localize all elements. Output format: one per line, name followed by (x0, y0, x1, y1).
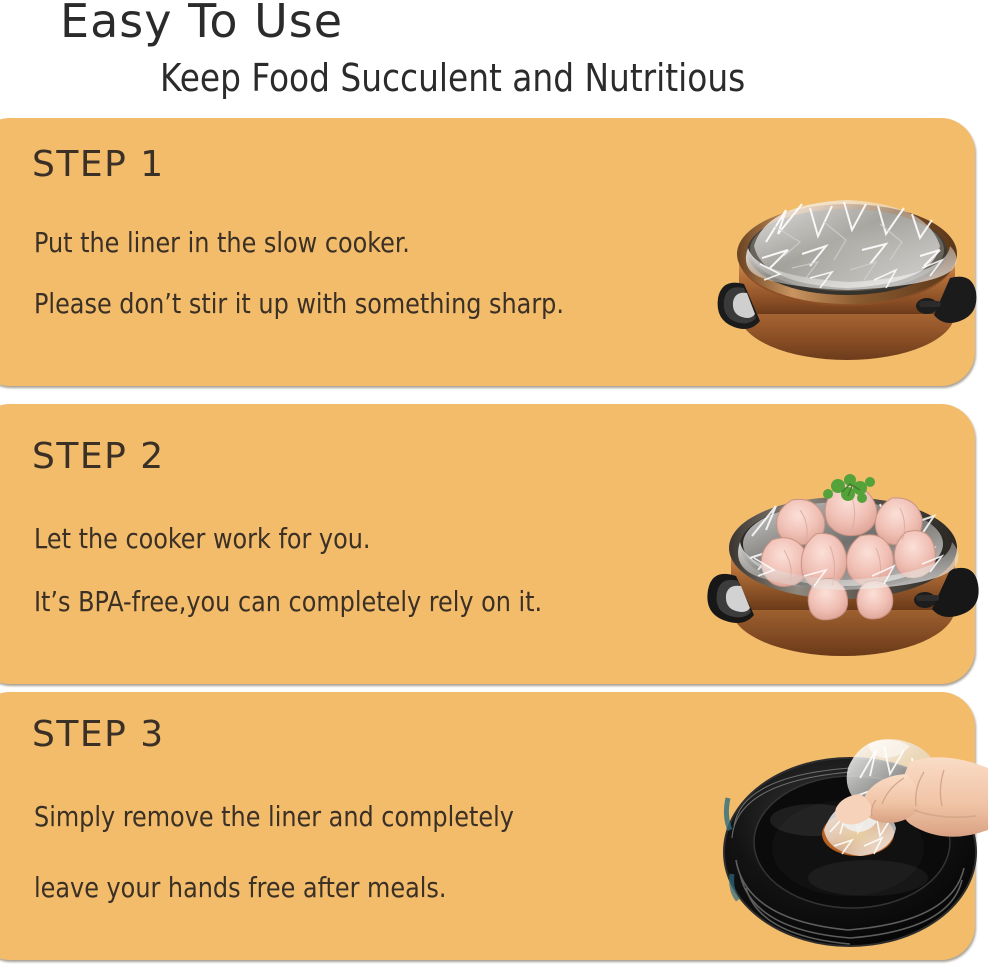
step-3-text-block: Simply remove the liner and completely l… (34, 800, 539, 942)
step-2-line-1: Let the cooker work for you. (34, 522, 542, 555)
step-3-heading: STEP 3 (32, 714, 165, 755)
header-block: Easy To Use Keep Food Succulent and Nutr… (0, 0, 994, 112)
step-1-photo-slow-cooker-with-liner (714, 138, 984, 388)
page-title: Easy To Use (60, 0, 343, 48)
step-1-line-1: Put the liner in the slow cooker. (34, 226, 564, 259)
step-2-text-block: Let the cooker work for you. It’s BPA-fr… (34, 522, 569, 648)
step-1-text-block: Put the liner in the slow cooker. Please… (34, 226, 592, 348)
step-3-photo-hand-removing-liner (718, 702, 988, 960)
step-1-heading: STEP 1 (32, 144, 165, 185)
step-3-line-2: leave your hands free after meals. (34, 871, 514, 904)
step-2-heading: STEP 2 (32, 436, 165, 477)
step-2-line-2: It’s BPA-free,you can completely rely on… (34, 585, 542, 618)
step-1-line-2: Please don’t stir it up with something s… (34, 287, 564, 320)
step-2-photo-chicken-in-liner (700, 424, 985, 682)
page-subtitle: Keep Food Succulent and Nutritious (160, 56, 745, 100)
step-3-line-1: Simply remove the liner and completely (34, 800, 514, 833)
